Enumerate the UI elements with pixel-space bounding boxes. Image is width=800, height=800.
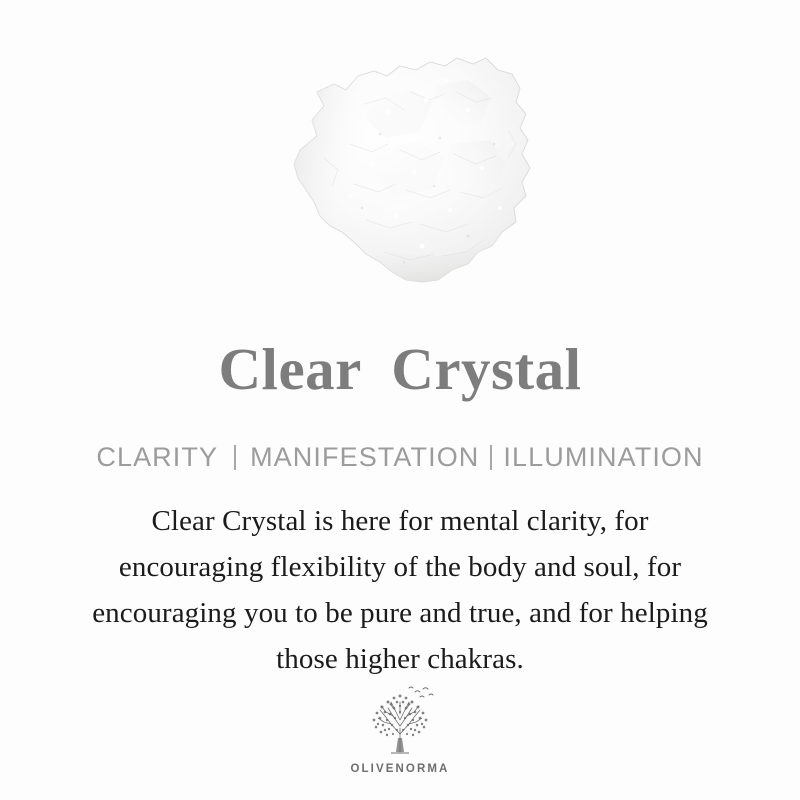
- description-paragraph: Clear Crystal is here for mental clarity…: [30, 498, 770, 682]
- hero-image-area: [0, 0, 800, 320]
- brand-name: OLIVENORMA: [351, 763, 450, 775]
- description-line: encouraging flexibility of the body and …: [30, 544, 770, 590]
- page-title: Clear Crystal: [0, 336, 800, 402]
- tree-of-life-icon: [357, 682, 443, 760]
- description-line: encouraging you to be pure and true, and…: [30, 590, 770, 636]
- crystal-image: [254, 40, 554, 290]
- keyword-manifestation: MANIFESTATION: [250, 442, 479, 472]
- description-line: those higher chakras.: [30, 636, 770, 682]
- keyword-list: CLARITYMANIFESTATIONILLUMINATION: [0, 440, 800, 474]
- keyword-separator-icon: [490, 445, 492, 470]
- description-line: Clear Crystal is here for mental clarity…: [30, 498, 770, 544]
- birds-icon: [409, 687, 433, 697]
- clear-crystal-product-card: Clear Crystal CLARITYMANIFESTATIONILLUMI…: [0, 0, 800, 800]
- keyword-clarity: CLARITY: [96, 442, 218, 472]
- tree-trunk: [396, 738, 404, 752]
- brand-logo: OLIVENORMA: [0, 682, 800, 775]
- clear-quartz-crystal-icon: [254, 40, 554, 290]
- keyword-illumination: ILLUMINATION: [503, 442, 703, 472]
- keyword-separator-icon: [234, 445, 236, 470]
